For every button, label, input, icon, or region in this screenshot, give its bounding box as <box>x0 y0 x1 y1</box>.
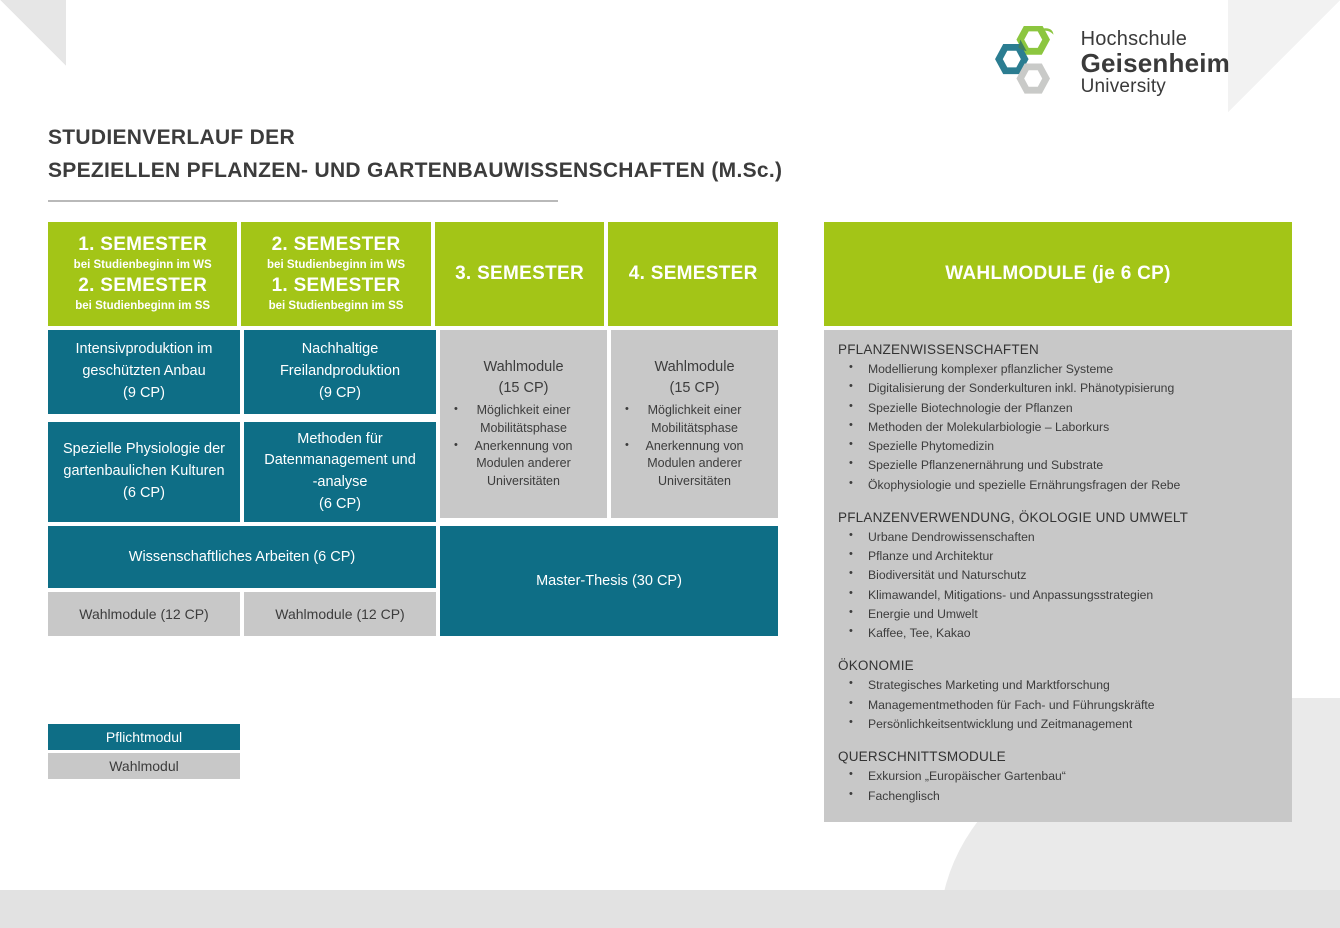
list-item: •Klimawandel, Mitigations- und Anpassung… <box>838 586 1278 605</box>
wahl4-bullet-1: Möglichkeit einer Mobilitätsphase <box>648 403 742 435</box>
col4-label: 4. SEMESTER <box>629 263 758 285</box>
elective-item-label: Kaffee, Tee, Kakao <box>868 626 971 640</box>
list-item: •Spezielle Biotechnologie der Pflanzen <box>838 399 1278 418</box>
col1-small-1: bei Studienbeginn im WS <box>74 257 212 274</box>
page-title: STUDIENVERLAUF DER SPEZIELLEN PFLANZEN- … <box>48 122 782 202</box>
module-master-thesis: Master-Thesis (30 CP) <box>440 526 778 636</box>
bullet-icon: • <box>625 438 629 454</box>
bullet-icon: • <box>849 417 853 434</box>
legend-pflichtmodul: Pflichtmodul <box>48 724 240 750</box>
title-line-2: SPEZIELLEN PFLANZEN- UND GARTENBAUWISSEN… <box>48 155 782 188</box>
title-divider <box>48 200 558 202</box>
list-item: •Exkursion „Europäischer Gartenbau“ <box>838 767 1278 786</box>
elective-item-label: Managementmethoden für Fach- und Führung… <box>868 698 1155 712</box>
elective-item-label: Spezielle Biotechnologie der Pflanzen <box>868 401 1073 415</box>
elective-group-title: QUERSCHNITTSMODULE <box>838 749 1278 764</box>
semester-header-col2: 2. SEMESTER bei Studienbeginn im WS 1. S… <box>241 222 430 326</box>
elective-item-label: Biodiversität und Naturschutz <box>868 568 1027 582</box>
bullet-icon: • <box>849 766 853 783</box>
bullet-icon: • <box>849 565 853 582</box>
list-item: •Managementmethoden für Fach- und Führun… <box>838 696 1278 715</box>
bullet-icon: • <box>849 623 853 640</box>
elective-group-list: •Exkursion „Europäischer Gartenbau“•Fach… <box>838 767 1278 806</box>
bottom-row: Wissenschaftliches Arbeiten (6 CP) Wahlm… <box>48 526 778 636</box>
list-item: •Pflanze und Architektur <box>838 547 1278 566</box>
module-nachhaltige-freilandproduktion: Nachhaltige Freilandproduktion (9 CP) <box>244 330 436 414</box>
col2-big-1: 2. SEMESTER <box>272 233 401 257</box>
elective-item-label: Ökophysiologie und spezielle Ernährungsf… <box>868 478 1180 492</box>
list-item: •Kaffee, Tee, Kakao <box>838 624 1278 643</box>
module-wahlmodule-sem4: Wahlmodule (15 CP) •Möglichkeit einer Mo… <box>611 330 778 518</box>
elective-group: ÖKONOMIE•Strategisches Marketing und Mar… <box>838 658 1278 734</box>
elective-item-label: Energie und Umwelt <box>868 607 978 621</box>
col1-small-2: bei Studienbeginn im SS <box>75 298 210 315</box>
elective-group-list: •Strategisches Marketing und Marktforsch… <box>838 676 1278 734</box>
list-item: •Möglichkeit einer Mobilitätsphase <box>621 402 768 438</box>
university-logo: Hochschule Geisenheim University <box>993 26 1230 98</box>
bullet-icon: • <box>849 527 853 544</box>
panel-body: PFLANZENWISSENSCHAFTEN•Modellierung komp… <box>824 330 1292 822</box>
semester-header-row: 1. SEMESTER bei Studienbeginn im WS 2. S… <box>48 222 778 326</box>
bullet-icon: • <box>849 714 853 731</box>
list-item: •Methoden der Molekularbiologie – Labork… <box>838 418 1278 437</box>
bullet-icon: • <box>454 402 458 418</box>
elective-item-label: Klimawandel, Mitigations- und Anpassungs… <box>868 588 1153 602</box>
list-item: •Modellierung komplexer pflanzlicher Sys… <box>838 360 1278 379</box>
elective-item-label: Urbane Dendrowissenschaften <box>868 530 1035 544</box>
mandatory-modules-stack: Intensivproduktion im geschützten Anbau … <box>48 330 436 522</box>
wahl3-bullet-2: Anerkennung von Modulen anderer Universi… <box>475 439 573 489</box>
bullet-icon: • <box>454 438 458 454</box>
bullet-icon: • <box>849 604 853 621</box>
elective-group-title: PFLANZENVERWENDUNG, ÖKOLOGIE UND UMWELT <box>838 510 1278 525</box>
list-item: •Fachenglisch <box>838 787 1278 806</box>
bullet-icon: • <box>849 695 853 712</box>
panel-header: WAHLMODULE (je 6 CP) <box>824 222 1292 326</box>
list-item: •Energie und Umwelt <box>838 605 1278 624</box>
list-item: •Spezielle Pflanzenernährung und Substra… <box>838 456 1278 475</box>
elective-item-label: Persönlichkeitsentwicklung und Zeitmanag… <box>868 717 1132 731</box>
col2-small-1: bei Studienbeginn im WS <box>267 257 405 274</box>
elective-item-label: Spezielle Phytomedizin <box>868 439 994 453</box>
wahl3-bullet-1: Möglichkeit einer Mobilitätsphase <box>477 403 571 435</box>
bullet-icon: • <box>849 546 853 563</box>
elective-item-label: Modellierung komplexer pflanzlicher Syst… <box>868 362 1113 376</box>
elective-modules-panel: WAHLMODULE (je 6 CP) PFLANZENWISSENSCHAF… <box>824 222 1292 822</box>
module-wissenschaftliches-arbeiten: Wissenschaftliches Arbeiten (6 CP) <box>48 526 436 588</box>
module-spezielle-physiologie: Spezielle Physiologie der gartenbauliche… <box>48 422 240 522</box>
corner-triangle-top-left <box>0 0 66 66</box>
bullet-icon: • <box>849 475 853 492</box>
module-methoden-datenmanagement: Methoden für Datenmanagement und -analys… <box>244 422 436 522</box>
elective-group: QUERSCHNITTSMODULE•Exkursion „Europäisch… <box>838 749 1278 806</box>
bottom-left-stack: Wissenschaftliches Arbeiten (6 CP) Wahlm… <box>48 526 436 636</box>
elective-group-list: •Urbane Dendrowissenschaften•Pflanze und… <box>838 528 1278 644</box>
logo-line-1: Hochschule <box>1081 29 1230 49</box>
wahl4-bullet-2: Anerkennung von Modulen anderer Universi… <box>646 439 744 489</box>
col1-big-2: 2. SEMESTER <box>78 274 207 298</box>
elective-item-label: Pflanze und Architektur <box>868 549 993 563</box>
col1-big-1: 1. SEMESTER <box>78 233 207 257</box>
list-item: •Ökophysiologie und spezielle Ernährungs… <box>838 476 1278 495</box>
semester-header-col4: 4. SEMESTER <box>608 222 778 326</box>
corner-triangle-top-right <box>1228 0 1340 112</box>
list-item: •Digitalisierung der Sonderkulturen inkl… <box>838 379 1278 398</box>
legend-wahlmodul: Wahlmodul <box>48 753 240 779</box>
bullet-icon: • <box>849 786 853 803</box>
elective-item-label: Spezielle Pflanzenernährung und Substrat… <box>868 458 1103 472</box>
bullet-icon: • <box>849 359 853 376</box>
bullet-icon: • <box>849 675 853 692</box>
logo-line-3: University <box>1081 77 1230 96</box>
list-item: •Urbane Dendrowissenschaften <box>838 528 1278 547</box>
col2-big-2: 1. SEMESTER <box>272 274 401 298</box>
list-item: •Möglichkeit einer Mobilitätsphase <box>450 402 597 438</box>
elective-group-list: •Modellierung komplexer pflanzlicher Sys… <box>838 360 1278 495</box>
list-item: •Spezielle Phytomedizin <box>838 437 1278 456</box>
module-wahlmodule-sem3: Wahlmodule (15 CP) •Möglichkeit einer Mo… <box>440 330 607 518</box>
module-wahlmodule-12cp-a: Wahlmodule (12 CP) <box>48 592 240 636</box>
elective-group: PFLANZENWISSENSCHAFTEN•Modellierung komp… <box>838 342 1278 495</box>
wahl3-bullets: •Möglichkeit einer Mobilitätsphase •Aner… <box>450 402 597 491</box>
wahl4-bullets: •Möglichkeit einer Mobilitätsphase •Aner… <box>621 402 768 491</box>
bottom-band <box>0 890 1340 928</box>
hexagon-logo-icon <box>993 26 1071 98</box>
study-plan-chart: 1. SEMESTER bei Studienbeginn im WS 2. S… <box>48 222 778 636</box>
bullet-icon: • <box>849 398 853 415</box>
module-wahlmodule-12cp-b: Wahlmodule (12 CP) <box>244 592 436 636</box>
col2-small-2: bei Studienbeginn im SS <box>269 298 404 315</box>
elective-group-title: PFLANZENWISSENSCHAFTEN <box>838 342 1278 357</box>
bullet-icon: • <box>849 436 853 453</box>
wahl4-title: Wahlmodule (15 CP) <box>621 357 768 399</box>
bullet-icon: • <box>849 585 853 602</box>
bullet-icon: • <box>849 378 853 395</box>
wahl3-title: Wahlmodule (15 CP) <box>450 357 597 399</box>
logo-line-2: Geisenheim <box>1081 50 1230 76</box>
elective-item-label: Fachenglisch <box>868 789 940 803</box>
legend: Pflichtmodul Wahlmodul <box>48 724 240 779</box>
elective-item-label: Exkursion „Europäischer Gartenbau“ <box>868 769 1066 783</box>
elective-item-label: Strategisches Marketing und Marktforschu… <box>868 678 1110 692</box>
elective-item-label: Digitalisierung der Sonderkulturen inkl.… <box>868 381 1174 395</box>
list-item: •Anerkennung von Modulen anderer Univers… <box>450 438 597 491</box>
bullet-icon: • <box>625 402 629 418</box>
semester-header-col3: 3. SEMESTER <box>435 222 605 326</box>
elective-group: PFLANZENVERWENDUNG, ÖKOLOGIE UND UMWELT•… <box>838 510 1278 644</box>
elective-group-title: ÖKONOMIE <box>838 658 1278 673</box>
elective-item-label: Methoden der Molekularbiologie – Laborku… <box>868 420 1109 434</box>
bullet-icon: • <box>849 455 853 472</box>
list-item: •Anerkennung von Modulen anderer Univers… <box>621 438 768 491</box>
col3-label: 3. SEMESTER <box>455 263 584 285</box>
title-line-1: STUDIENVERLAUF DER <box>48 122 782 155</box>
list-item: •Biodiversität und Naturschutz <box>838 566 1278 585</box>
list-item: •Strategisches Marketing und Marktforsch… <box>838 676 1278 695</box>
module-intensivproduktion: Intensivproduktion im geschützten Anbau … <box>48 330 240 414</box>
module-row: Intensivproduktion im geschützten Anbau … <box>48 330 778 522</box>
semester-header-col1: 1. SEMESTER bei Studienbeginn im WS 2. S… <box>48 222 237 326</box>
list-item: •Persönlichkeitsentwicklung und Zeitmana… <box>838 715 1278 734</box>
